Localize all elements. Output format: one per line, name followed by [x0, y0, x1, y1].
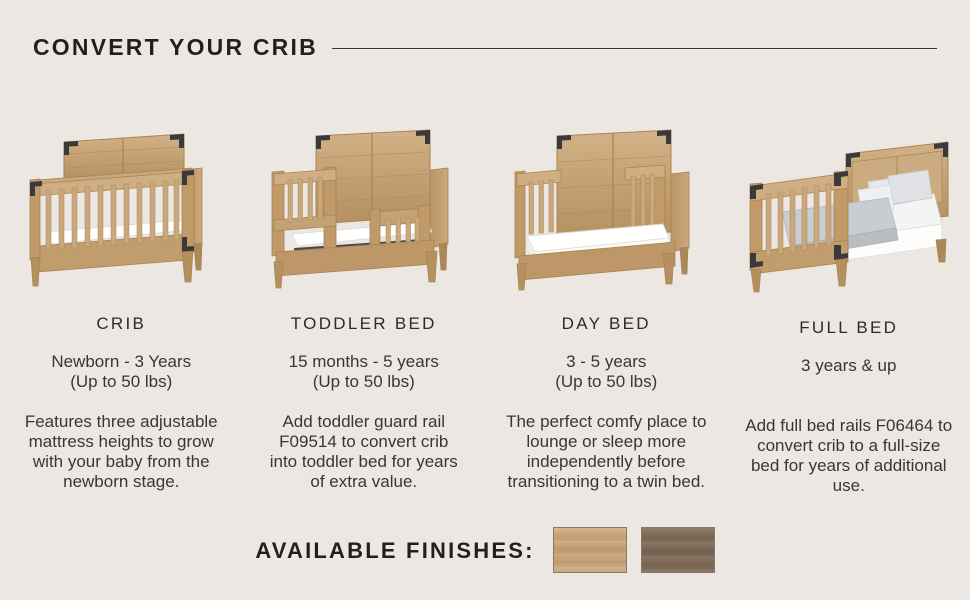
weight-line: (Up to 50 lbs) [289, 372, 439, 392]
product-column-crib: CRIB Newborn - 3 Years (Up to 50 lbs) Fe… [0, 118, 243, 496]
column-title-crib: CRIB [96, 315, 146, 332]
age-range-day-bed: 3 - 5 years (Up to 50 lbs) [555, 352, 657, 392]
weight-line: (Up to 50 lbs) [51, 372, 191, 392]
age-line: 15 months - 5 years [289, 352, 439, 372]
column-title-day-bed: DAY BED [562, 315, 651, 332]
product-column-full-bed: FULL BED 3 years & up Add full bed rails… [728, 118, 970, 496]
description-full-bed: Add full bed rails F06464 to convert cri… [743, 416, 955, 496]
product-column-day-bed: DAY BED 3 - 5 years (Up to 50 lbs) The p… [485, 118, 728, 496]
weight-line: (Up to 50 lbs) [555, 372, 657, 392]
available-finishes-section: AVAILABLE FINISHES: [0, 527, 970, 573]
page-header: CONVERT YOUR CRIB [0, 30, 970, 64]
column-title-full-bed: FULL BED [799, 319, 898, 336]
age-range-toddler-bed: 15 months - 5 years (Up to 50 lbs) [289, 352, 439, 392]
description-day-bed: The perfect comfy place to lounge or sle… [497, 412, 715, 492]
age-range-full-bed: 3 years & up [801, 356, 896, 396]
dark-walnut-finish-swatch[interactable] [641, 527, 715, 573]
day-bed-illustration [490, 118, 722, 296]
finish-swatch-list [553, 527, 715, 573]
age-range-crib: Newborn - 3 Years (Up to 50 lbs) [51, 352, 191, 392]
age-line: 3 - 5 years [555, 352, 657, 372]
description-toddler-bed: Add toddler guard rail F09514 to convert… [264, 412, 464, 492]
age-line: 3 years & up [801, 356, 896, 376]
header-divider [332, 48, 937, 49]
toddler-bed-illustration [248, 118, 480, 296]
product-column-toddler-bed: TODDLER BED 15 months - 5 years (Up to 5… [243, 118, 486, 496]
available-finishes-label: AVAILABLE FINISHES: [255, 540, 534, 562]
page-title: CONVERT YOUR CRIB [33, 36, 318, 59]
description-crib: Features three adjustable mattress heigh… [14, 412, 229, 492]
product-columns: CRIB Newborn - 3 Years (Up to 50 lbs) Fe… [0, 118, 970, 496]
column-title-toddler-bed: TODDLER BED [291, 315, 437, 332]
full-bed-illustration [733, 118, 965, 296]
age-line: Newborn - 3 Years [51, 352, 191, 372]
light-oak-finish-swatch[interactable] [553, 527, 627, 573]
infographic-page: CONVERT YOUR CRIB [0, 0, 970, 600]
crib-illustration [5, 118, 237, 296]
